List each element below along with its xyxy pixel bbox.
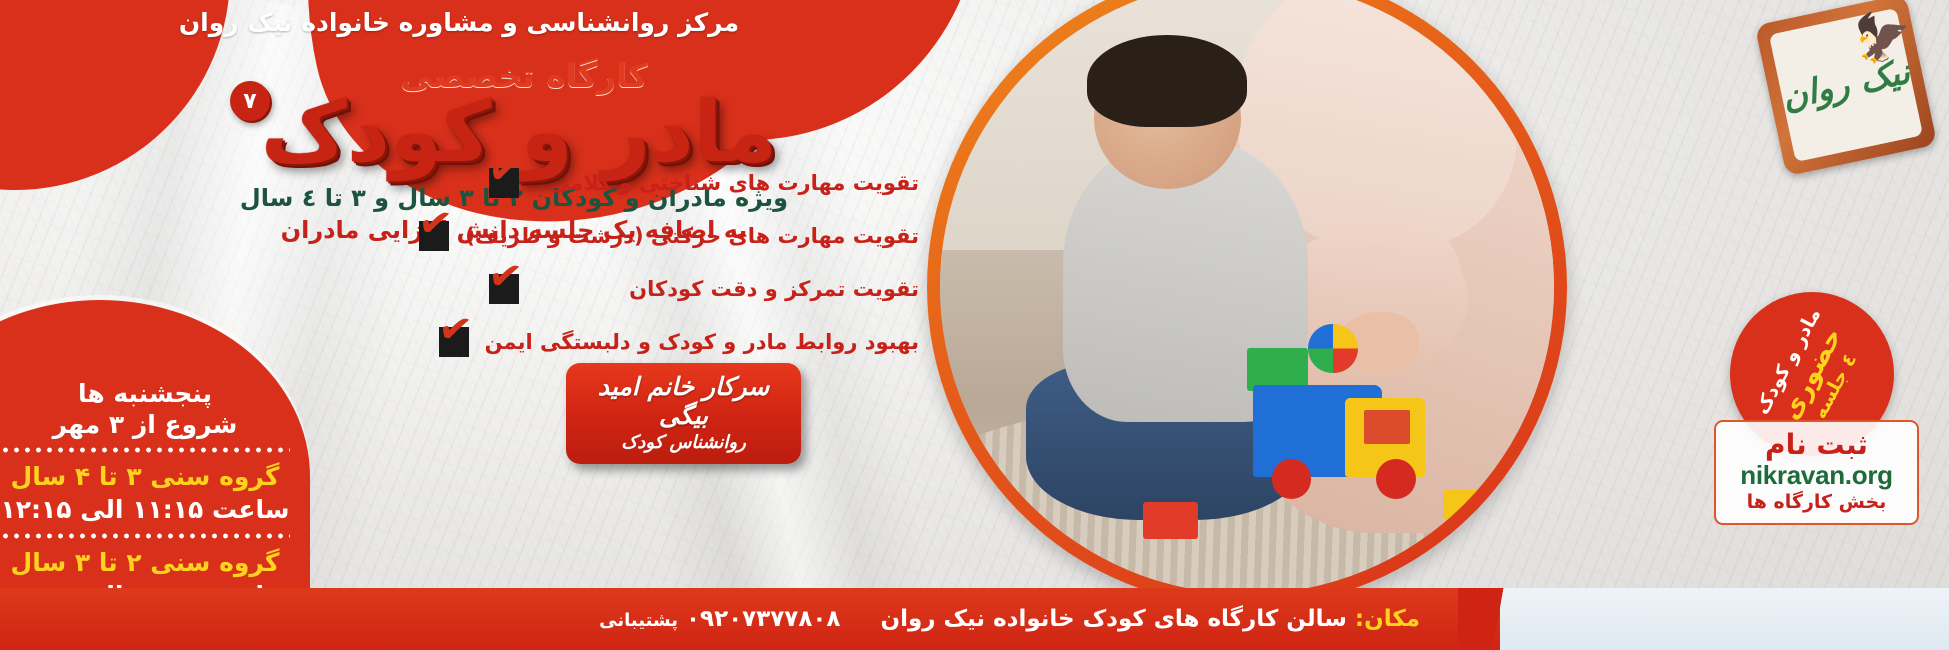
registration-subtitle: بخش کارگاه ها: [1726, 491, 1907, 514]
schedule-start-date: شروع از ۳ مهر: [0, 409, 290, 440]
bird-icon: 🦅: [1848, 8, 1912, 70]
promo-banner: مرکز روانشناسی و مشاوره خانواده نیک روان…: [0, 0, 1949, 650]
registration-box[interactable]: ثبت نام nikravan.org بخش کارگاه ها: [1714, 420, 1919, 525]
photo-frame: [927, 0, 1567, 607]
support-phone[interactable]: ۰۹۲۰۷۳۷۷۸۰۸ پشتیبانی: [599, 606, 840, 632]
location-value: سالن کارگاه های کودک خانواده نیک روان: [880, 606, 1346, 632]
age-group-2: گروه سنی ۲ تا ۳ سال: [0, 547, 290, 580]
checkmark-icon: ✔: [419, 221, 449, 251]
checklist-label: تقویت تمرکز و دقت کودکان: [535, 277, 919, 301]
divider: [0, 533, 290, 539]
phone-number: ۰۹۲۰۷۳۷۷۸۰۸: [686, 606, 840, 632]
registration-url[interactable]: nikravan.org: [1726, 461, 1907, 491]
schedule-day: پنجشنبه ها: [0, 378, 290, 409]
presenter-name: سرکار خانم امید بیگی: [580, 372, 787, 430]
age-group-1-time: ساعت ۱۱:۱۵ الی ۱۲:۱۵: [0, 494, 290, 527]
brand-logo[interactable]: نیک روان 🦅: [1769, 8, 1923, 162]
mother-and-child-photo: [940, 0, 1554, 594]
footer-right-panel: [1479, 588, 1949, 650]
list-item: تقویت مهارت های حرکتی (درشت و ظریف) ✔: [489, 218, 919, 254]
list-item: تقویت مهارت های شناختی و کلامی ✔: [489, 165, 919, 201]
location-label: مکان:: [1355, 606, 1420, 632]
checkmark-icon: ✔: [489, 274, 519, 304]
footer-bar: مکان: سالن کارگاه های کودک خانواده نیک ر…: [0, 588, 1500, 650]
session-number-badge: ۷: [230, 81, 270, 121]
checklist-label: تقویت مهارت های حرکتی (درشت و ظریف): [465, 224, 919, 248]
registration-title: ثبت نام: [1726, 430, 1907, 461]
center-name: مرکز روانشناسی و مشاوره خانواده نیک روان: [149, 8, 769, 37]
divider: [0, 447, 290, 453]
location-info: مکان: سالن کارگاه های کودک خانواده نیک ر…: [880, 606, 1420, 632]
checkmark-icon: ✔: [489, 168, 519, 198]
presenter-badge: سرکار خانم امید بیگی روانشناس کودک: [566, 363, 801, 464]
age-group-1: گروه سنی ۳ تا ۴ سال: [0, 461, 290, 494]
benefits-checklist: تقویت مهارت های شناختی و کلامی ✔ تقویت م…: [489, 165, 919, 377]
presenter-role: روانشناس کودک: [580, 432, 787, 453]
checklist-label: تقویت مهارت های شناختی و کلامی: [535, 171, 919, 195]
checklist-label: بهبود روابط مادر و کودک و دلبستگی ایمن: [485, 330, 919, 354]
list-item: بهبود روابط مادر و کودک و دلبستگی ایمن ✔: [489, 324, 919, 360]
phone-label: پشتیبانی: [599, 610, 678, 631]
list-item: تقویت تمرکز و دقت کودکان ✔: [489, 271, 919, 307]
checkmark-icon: ✔: [439, 327, 469, 357]
